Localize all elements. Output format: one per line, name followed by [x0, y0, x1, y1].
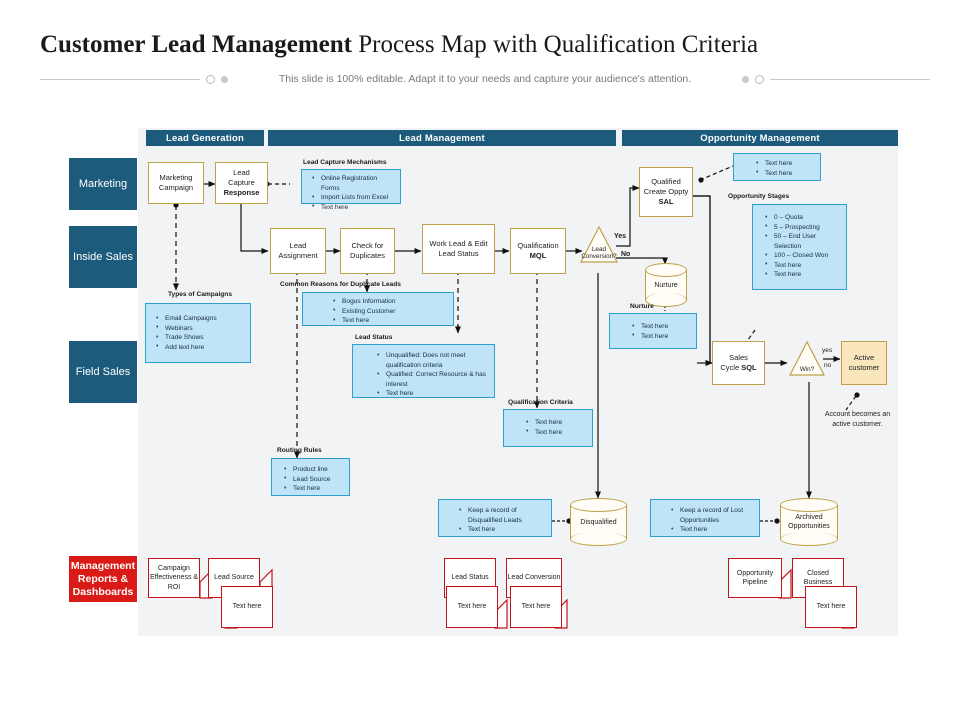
- decision-win-label: Win?: [789, 366, 825, 374]
- datastore-archived-opportunities[interactable]: Archived Opportunities: [780, 498, 838, 546]
- list-item: Text here: [284, 484, 345, 494]
- list-item: 50 – End User Selection: [765, 232, 842, 251]
- callout-lead-status: Unqualified: Does not meet qualification…: [352, 344, 495, 398]
- note-closed-business-text[interactable]: Text here: [805, 586, 857, 628]
- dot-icon-left: [221, 76, 228, 83]
- list-item: Text here: [756, 159, 816, 169]
- qualification-line2: MQL: [530, 251, 547, 261]
- row-label-inside-sales: Inside Sales: [69, 226, 137, 288]
- callout-list: 0 – Quota 5 – Prospecting 50 – End User …: [765, 213, 842, 280]
- list-item: Add text here: [156, 343, 246, 353]
- list-item: Text here: [765, 270, 842, 280]
- list-item: Text here: [312, 203, 396, 213]
- caption-opportunity-stages: Opportunity Stages: [728, 193, 789, 200]
- decision-win[interactable]: Win?: [789, 341, 825, 377]
- callout-routing-rules: Product line Lead Source Text here: [271, 458, 350, 496]
- caption-routing-rules: Routing Rules: [277, 447, 322, 454]
- subtitle-rule-left: [40, 79, 200, 80]
- row-label-management-reports: Management Reports & Dashboards: [69, 556, 137, 602]
- process-qualification-mql[interactable]: Qualification MQL: [510, 228, 566, 274]
- callout-list: Keep a record of Disqualified Leads Text…: [459, 506, 547, 535]
- caption-lead-status: Lead Status: [355, 334, 392, 341]
- callout-sal-notes: Text here Text here: [733, 153, 821, 181]
- list-item: 5 – Prospecting: [765, 223, 842, 233]
- sales-cycle-line2: Cycle SQL: [720, 363, 756, 373]
- datastore-disqualified-label: Disqualified: [570, 498, 627, 546]
- lead-capture-line1: Lead: [233, 168, 250, 178]
- page-title: Customer Lead Management Process Map wit…: [40, 30, 930, 60]
- process-sales-cycle-sql[interactable]: Sales Cycle SQL: [712, 341, 765, 385]
- datastore-archived-label: Archived Opportunities: [780, 498, 838, 546]
- callout-types-of-campaigns: Email Campaigns Webinars Trade Shows Add…: [145, 303, 251, 363]
- list-item: Webinars: [156, 324, 246, 334]
- process-lead-capture-response[interactable]: Lead Capture Response: [215, 162, 268, 204]
- ring-icon-right: [755, 75, 764, 84]
- list-item: Trade Shows: [156, 333, 246, 343]
- list-item: Text here: [377, 389, 490, 399]
- list-item: Text here: [632, 322, 692, 332]
- callout-disqualified-notes: Keep a record of Disqualified Leads Text…: [438, 499, 552, 537]
- text-account-becomes-active: Account becomes an active customer.: [820, 410, 895, 429]
- label-yes-lead-conversion: Yes: [614, 233, 626, 240]
- decision-lead-conversion-label: Lead Conversion?: [580, 246, 618, 261]
- callout-nurture-notes: Text here Text here: [609, 313, 697, 349]
- caption-duplicate-reasons: Common Reasons for Duplicate Leads: [280, 281, 401, 288]
- callout-duplicate-reasons: Bogus Information Existing Customer Text…: [302, 292, 454, 326]
- band-lead-generation: Lead Generation: [146, 130, 264, 146]
- caption-types-of-campaigns: Types of Campaigns: [168, 291, 232, 298]
- list-item: Qualified: Correct Resource & has intere…: [377, 370, 490, 389]
- list-item: Text here: [459, 525, 547, 535]
- callout-list: Product line Lead Source Text here: [284, 465, 345, 494]
- sales-cycle-line2-text: Cycle: [720, 363, 739, 372]
- note-lead-source-text[interactable]: Text here: [221, 586, 273, 628]
- sales-cycle-line1: Sales: [729, 353, 748, 363]
- callout-list: Email Campaigns Webinars Trade Shows Add…: [156, 314, 246, 352]
- dot-icon-right: [742, 76, 749, 83]
- list-item: Text here: [632, 332, 692, 342]
- subtitle-rule-right: [770, 79, 930, 80]
- process-work-lead-edit-status[interactable]: Work Lead & Edit Lead Status: [422, 224, 495, 274]
- list-item: Existing Customer: [333, 307, 449, 317]
- callout-lead-capture-mechanisms: Online Registration Forms Import Lists f…: [301, 169, 401, 204]
- ring-icon-left: [206, 75, 215, 84]
- callout-list: Text here Text here: [526, 418, 588, 437]
- datastore-disqualified[interactable]: Disqualified: [570, 498, 627, 546]
- process-active-customer[interactable]: Active customer: [841, 341, 887, 385]
- list-item: Lead Source: [284, 475, 345, 485]
- list-item: Text here: [526, 418, 588, 428]
- note-opportunity-pipeline[interactable]: Opportunity Pipeline: [728, 558, 782, 598]
- list-item: Keep a record of Lost Opportunities: [671, 506, 755, 525]
- note-campaign-effectiveness[interactable]: Campaign Effectiveness & ROI: [148, 558, 200, 598]
- caption-lead-capture-mechanisms: Lead Capture Mechanisms: [303, 159, 387, 166]
- callout-list: Unqualified: Does not meet qualification…: [377, 351, 490, 399]
- callout-archived-notes: Keep a record of Lost Opportunities Text…: [650, 499, 760, 537]
- list-item: 0 – Quota: [765, 213, 842, 223]
- label-no-win: no: [824, 362, 831, 369]
- note-lead-status-text[interactable]: Text here: [446, 586, 498, 628]
- callout-qualification-criteria: Text here Text here: [503, 409, 593, 447]
- band-lead-management: Lead Management: [268, 130, 616, 146]
- callout-list: Bogus Information Existing Customer Text…: [333, 297, 449, 326]
- sal-line3: SAL: [659, 197, 674, 207]
- process-marketing-campaign[interactable]: Marketing Campaign: [148, 162, 204, 204]
- list-item: Email Campaigns: [156, 314, 246, 324]
- row-label-field-sales: Field Sales: [69, 341, 137, 403]
- sales-cycle-line3: SQL: [741, 363, 756, 372]
- subtitle-text: This slide is 100% editable. Adapt it to…: [279, 73, 691, 85]
- callout-list: Online Registration Forms Import Lists f…: [312, 174, 396, 212]
- list-item: Text here: [333, 316, 449, 326]
- list-item: Text here: [765, 261, 842, 271]
- band-opportunity-management: Opportunity Management: [622, 130, 898, 146]
- decision-lead-conversion[interactable]: Lead Conversion?: [580, 226, 618, 264]
- datastore-nurture-label: Nurture: [645, 263, 687, 307]
- list-item: Text here: [756, 169, 816, 179]
- page-title-bold: Customer Lead Management: [40, 31, 352, 58]
- list-item: Bogus Information: [333, 297, 449, 307]
- callout-list: Keep a record of Lost Opportunities Text…: [671, 506, 755, 535]
- datastore-nurture[interactable]: Nurture: [645, 263, 687, 307]
- process-lead-assignment[interactable]: Lead Assignment: [270, 228, 326, 274]
- list-item: Text here: [671, 525, 755, 535]
- list-item: Unqualified: Does not meet qualification…: [377, 351, 490, 370]
- lead-capture-line3: Response: [224, 188, 260, 198]
- note-lead-conversion-text[interactable]: Text here: [510, 586, 562, 628]
- page-title-normal: Process Map with Qualification Criteria: [352, 31, 758, 58]
- label-no-lead-conversion: No: [621, 251, 630, 258]
- list-item: Product line: [284, 465, 345, 475]
- sal-line1: Qualified: [651, 177, 681, 187]
- sal-line2: Create Oppty: [644, 187, 689, 197]
- label-yes-win: yes: [822, 347, 832, 354]
- process-qualified-create-oppty-sal[interactable]: Qualified Create Oppty SAL: [639, 167, 693, 217]
- list-item: 100 – Closed Won: [765, 251, 842, 261]
- callout-opportunity-stages: 0 – Quota 5 – Prospecting 50 – End User …: [752, 204, 847, 290]
- lead-capture-line2: Capture: [228, 178, 255, 188]
- process-check-duplicates[interactable]: Check for Duplicates: [340, 228, 395, 274]
- callout-list: Text here Text here: [632, 322, 692, 341]
- caption-qualification-criteria: Qualification Criteria: [508, 399, 573, 406]
- subtitle-row: This slide is 100% editable. Adapt it to…: [40, 70, 930, 88]
- list-item: Keep a record of Disqualified Leads: [459, 506, 547, 525]
- list-item: Import Lists from Excel: [312, 193, 396, 203]
- qualification-line1: Qualification: [517, 241, 558, 251]
- list-item: Text here: [526, 428, 588, 438]
- list-item: Online Registration Forms: [312, 174, 396, 193]
- row-label-marketing: Marketing: [69, 158, 137, 210]
- callout-list: Text here Text here: [756, 159, 816, 178]
